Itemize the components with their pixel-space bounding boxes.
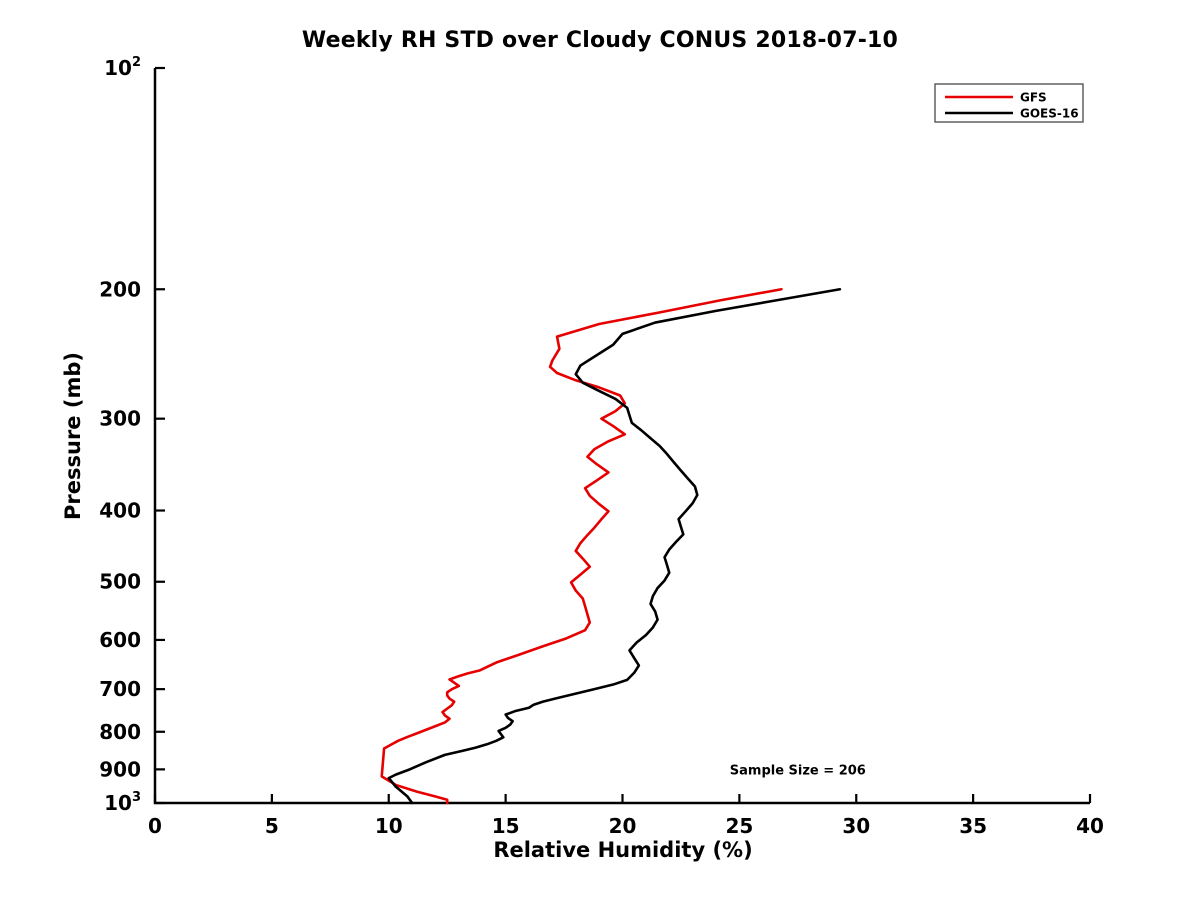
x-tick-label: 35 xyxy=(959,814,987,838)
y-tick-label: 400 xyxy=(99,499,141,523)
annotation-group: Sample Size = 206 xyxy=(730,764,866,779)
x-tick-label: 40 xyxy=(1076,814,1104,838)
chart-area: 0510152025303540 10220030040050060070080… xyxy=(0,0,1200,900)
x-tick-label: 30 xyxy=(842,814,870,838)
legend-group[interactable]: GFSGOES-16 xyxy=(935,84,1083,122)
y-tick-label: 200 xyxy=(99,277,141,301)
chart-root: Weekly RH STD over Cloudy CONUS 2018-07-… xyxy=(0,0,1200,900)
y-tick-label: 700 xyxy=(99,677,141,701)
series-line-goes-16 xyxy=(389,289,840,803)
y-tick-label: 900 xyxy=(99,757,141,781)
y-tick-label: 800 xyxy=(99,720,141,744)
y-tick-label: 600 xyxy=(99,628,141,652)
profile-plot-svg: 0510152025303540 10220030040050060070080… xyxy=(0,0,1200,900)
x-tick-label: 15 xyxy=(492,814,520,838)
x-tick-label: 10 xyxy=(375,814,403,838)
sample-size-annotation: Sample Size = 206 xyxy=(730,764,866,779)
y-tick-label: 300 xyxy=(99,407,141,431)
x-tick-label: 0 xyxy=(148,814,162,838)
legend-label-goes-16: GOES-16 xyxy=(1020,107,1079,121)
x-axis-label: Relative Humidity (%) xyxy=(493,838,752,862)
y-axis-label: Pressure (mb) xyxy=(61,352,85,520)
y-tick-label: 102 xyxy=(104,55,141,80)
x-tick-label: 20 xyxy=(609,814,637,838)
x-tick-label: 5 xyxy=(265,814,279,838)
legend-label-gfs: GFS xyxy=(1020,91,1047,105)
y-tick-label: 103 xyxy=(104,790,141,815)
x-tick-label: 25 xyxy=(725,814,753,838)
y-tick-label: 500 xyxy=(99,570,141,594)
x-tick-group: 0510152025303540 xyxy=(148,794,1104,838)
series-group xyxy=(382,289,840,803)
